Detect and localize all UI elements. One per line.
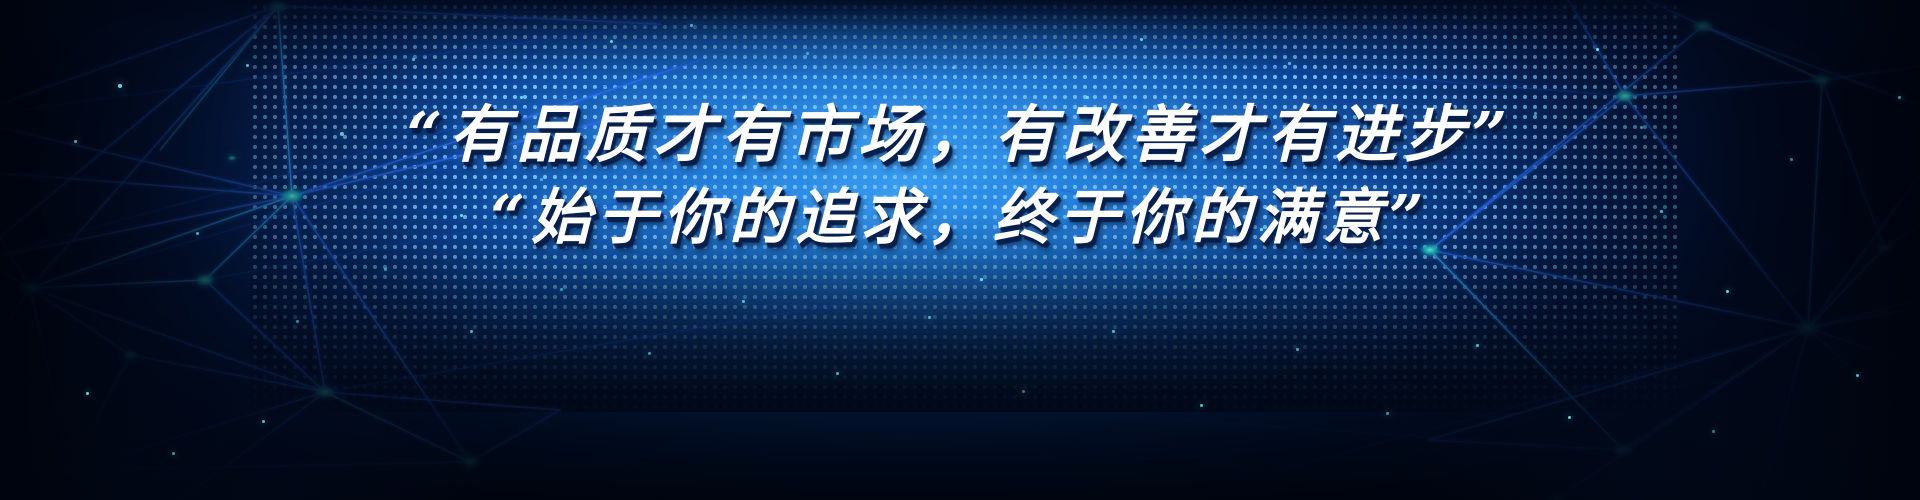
sparkle-particle (384, 268, 387, 271)
sparkle-particle (742, 96, 745, 99)
sparkle-particle (880, 118, 883, 121)
sparkle-particle (700, 240, 703, 243)
sparkle-particle (1468, 190, 1471, 193)
sparkle-particle (412, 58, 415, 61)
sparkle-particle (1412, 86, 1415, 89)
sparkle-particle (1660, 210, 1663, 213)
sparkle-particle (690, 24, 693, 27)
sparkle-particle (1222, 118, 1225, 121)
sparkle-particle (1898, 96, 1901, 99)
sparkle-particle (262, 420, 265, 423)
sparkle-particle (1140, 38, 1143, 41)
sparkle-particle (806, 52, 809, 55)
sparkle-particle (980, 278, 983, 281)
sparkle-particle (86, 392, 89, 395)
sparkle-particle (1386, 412, 1389, 415)
sparkle-particle (610, 40, 613, 43)
sparkle-particle (340, 132, 344, 136)
sparkle-particle (1856, 374, 1859, 377)
sparkle-particle (1790, 158, 1793, 161)
sparkle-particle (540, 178, 543, 181)
sparkle-particle (952, 66, 955, 69)
sparkle-particle (1296, 348, 1299, 351)
sparkle-particle (1596, 48, 1599, 51)
sparkle-particle (1288, 62, 1291, 65)
sparkle-particle (1640, 126, 1643, 129)
sparkle-particle (1200, 404, 1203, 407)
sparkle-particle (296, 320, 299, 323)
sparkle-particle (648, 352, 651, 355)
sparkle-particle (470, 330, 473, 333)
sparkle-particle (460, 214, 463, 217)
sparkle-particle (1086, 96, 1089, 99)
sparkle-particle (1112, 330, 1115, 333)
sparkle-particle (172, 452, 175, 455)
sparkle-particle (1260, 228, 1263, 231)
sparkle-particle (74, 140, 77, 143)
glowing-particles (0, 0, 1920, 500)
sparkle-particle (742, 300, 745, 303)
sparkle-particle (1534, 112, 1537, 115)
sparkle-particle (928, 316, 931, 319)
sparkle-particle (1022, 390, 1025, 393)
hero-banner: “有品质才有市场，有改善才有进步” “始于你的追求，终于你的满意” (0, 0, 1920, 500)
sparkle-particle (196, 232, 199, 235)
sparkle-particle (520, 96, 523, 99)
sparkle-particle (588, 150, 591, 153)
sparkle-particle (1008, 142, 1011, 145)
sparkle-particle (836, 372, 839, 375)
sparkle-particle (118, 84, 122, 88)
sparkle-particle (1726, 290, 1729, 293)
sparkle-particle (560, 288, 563, 291)
sparkle-particle (1712, 430, 1715, 433)
sparkle-particle (246, 64, 249, 67)
sparkle-particle (1476, 344, 1479, 347)
sparkle-particle (1568, 416, 1571, 419)
sparkle-particle (1350, 150, 1353, 153)
